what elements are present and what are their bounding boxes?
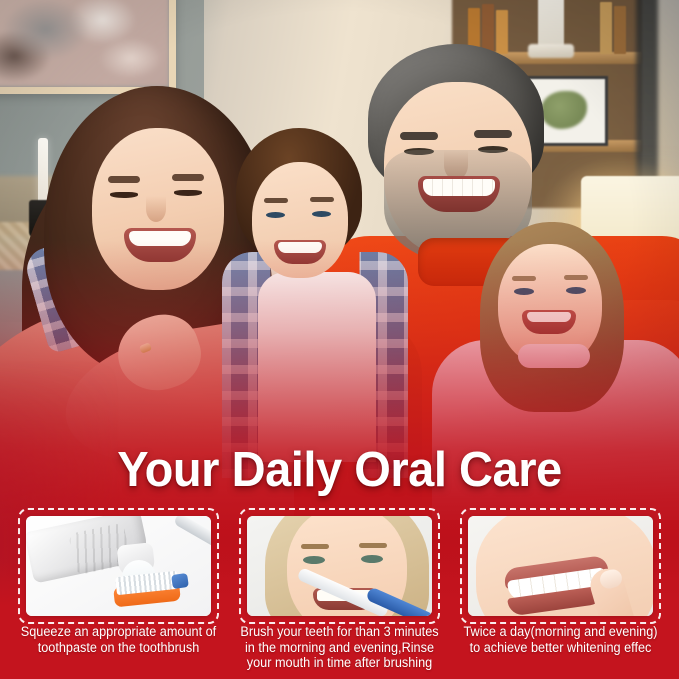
toothpaste-on-toothbrush-photo: [26, 516, 211, 616]
step-card-2: [239, 508, 440, 624]
step-caption-2: Brush your teeth for than 3 minutes in t…: [238, 624, 442, 679]
page-title: Your Daily Oral Care: [14, 441, 666, 499]
step-captions-row: Squeeze an appropriate amount of toothpa…: [0, 624, 679, 679]
step-card-1: [18, 508, 219, 624]
step-caption-3: Twice a day(morning and evening) to achi…: [459, 624, 663, 679]
white-teeth-smile-photo: [468, 516, 653, 616]
card2-eye-right: [361, 555, 383, 563]
step-caption-1: Squeeze an appropriate amount of toothpa…: [17, 624, 221, 679]
step-card-3: [460, 508, 661, 624]
woman-brushing-teeth-photo: [247, 516, 432, 616]
card2-brow-left: [301, 544, 329, 549]
card2-eye-left: [303, 556, 325, 564]
card2-brow-right: [359, 543, 387, 548]
step-cards-row: [0, 508, 679, 624]
toothbrush-blue-tip: [171, 573, 189, 589]
oral-care-promo-poster: Your Daily Oral Care: [0, 0, 679, 679]
